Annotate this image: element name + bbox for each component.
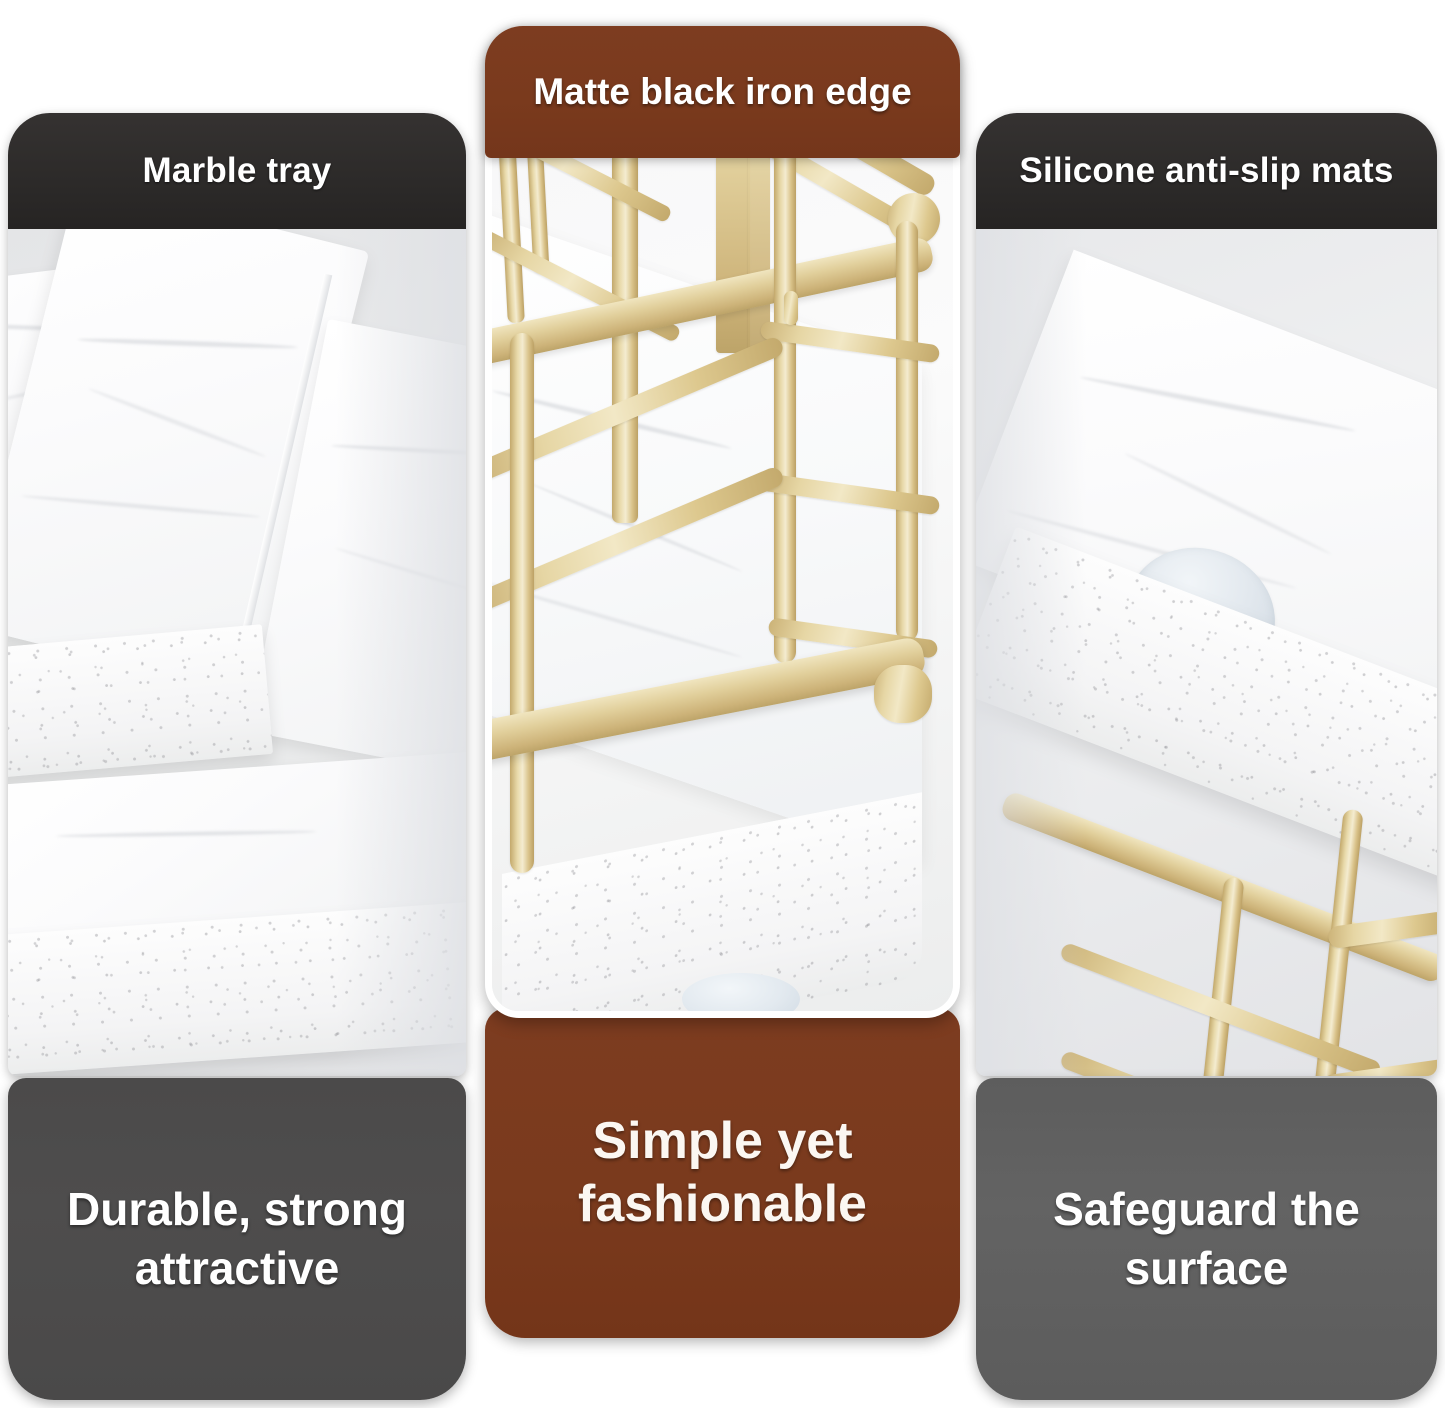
silicone-mats-caption: Safeguard the surface xyxy=(976,1078,1437,1400)
iron-edge-caption-text: Simple yet fashionable xyxy=(578,1110,867,1237)
iron-edge-header-label: Matte black iron edge xyxy=(533,71,911,113)
marble-tray-card: Marble tray xyxy=(8,113,466,1076)
marble-tray-caption: Durable, strong attractive xyxy=(8,1078,466,1400)
gold-tray-rim-corner xyxy=(874,665,932,723)
panel-marble-tray: Marble tray xyxy=(0,0,480,1408)
marble-tray-photo xyxy=(8,229,466,1076)
silicone-mats-photo xyxy=(976,229,1437,1076)
silicone-mats-caption-text: Safeguard the surface xyxy=(1053,1180,1360,1298)
iron-edge-caption: Simple yet fashionable xyxy=(485,1008,960,1338)
photo-vignette xyxy=(976,229,1086,1076)
iron-edge-photo xyxy=(492,33,953,1011)
marble-edge-block-front xyxy=(8,624,273,780)
marble-tray-caption-text: Durable, strong attractive xyxy=(67,1180,407,1298)
silicone-mats-header: Silicone anti-slip mats xyxy=(976,113,1437,229)
gold-post-right-outer xyxy=(896,221,918,641)
gold-post-front-left xyxy=(510,333,534,873)
iron-edge-card xyxy=(485,26,960,1018)
panel-matte-black-iron-edge: Matte black iron edge Simple yet fashion… xyxy=(481,0,964,1408)
silicone-mats-header-label: Silicone anti-slip mats xyxy=(1019,151,1393,191)
photo-vignette xyxy=(336,229,466,1076)
gold-joint-pin xyxy=(784,291,798,325)
infographic-board: Marble tray xyxy=(0,0,1445,1408)
marble-tray-header-label: Marble tray xyxy=(143,151,332,191)
gold-post-right-inner xyxy=(774,143,796,663)
iron-edge-header: Matte black iron edge xyxy=(485,26,960,158)
silicone-mats-card: Silicone anti-slip mats xyxy=(976,113,1437,1076)
marble-tray-header: Marble tray xyxy=(8,113,466,229)
panel-silicone-anti-slip-mats: Silicone anti-slip mats xyxy=(962,0,1445,1408)
